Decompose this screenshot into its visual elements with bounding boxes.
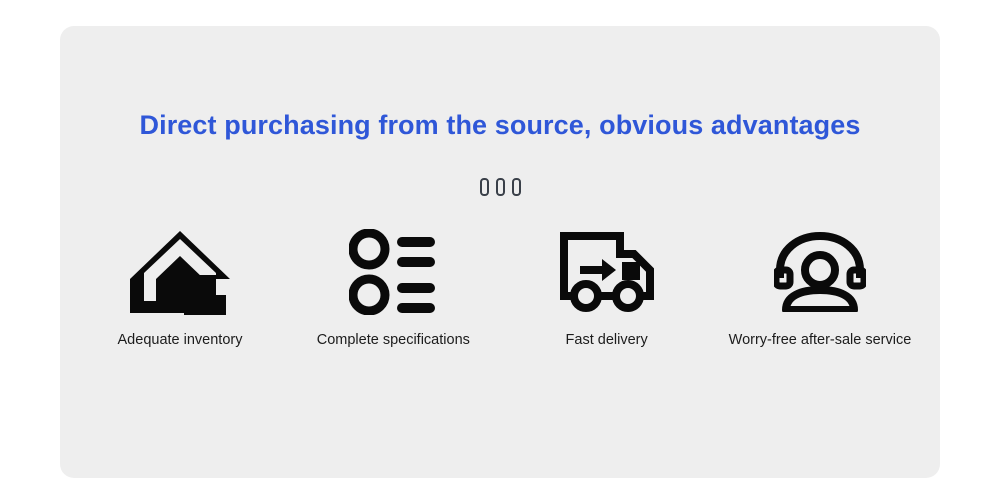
list-specifications-icon (349, 226, 437, 318)
delivery-truck-icon (560, 226, 654, 318)
warehouse-icon (128, 226, 232, 318)
feature-label: Complete specifications (317, 332, 470, 348)
feature-item-specifications: Complete specifications (293, 226, 493, 348)
divider-dots (60, 178, 940, 196)
headset-support-icon (774, 226, 866, 318)
page-title: Direct purchasing from the source, obvio… (60, 110, 940, 141)
feature-item-delivery: Fast delivery (507, 226, 707, 348)
feature-label: Fast delivery (566, 332, 648, 348)
divider-dot-icon (480, 178, 489, 196)
feature-label: Adequate inventory (118, 332, 243, 348)
advantages-card: Direct purchasing from the source, obvio… (60, 26, 940, 478)
feature-item-inventory: Adequate inventory (80, 226, 280, 348)
feature-item-support: Worry-free after-sale service (720, 226, 920, 348)
feature-label: Worry-free after-sale service (729, 332, 912, 348)
features-row: Adequate inventory Complete specificatio… (60, 226, 940, 348)
divider-dot-icon (512, 178, 521, 196)
banner-stage: Direct purchasing from the source, obvio… (0, 0, 1000, 499)
divider-dot-icon (496, 178, 505, 196)
